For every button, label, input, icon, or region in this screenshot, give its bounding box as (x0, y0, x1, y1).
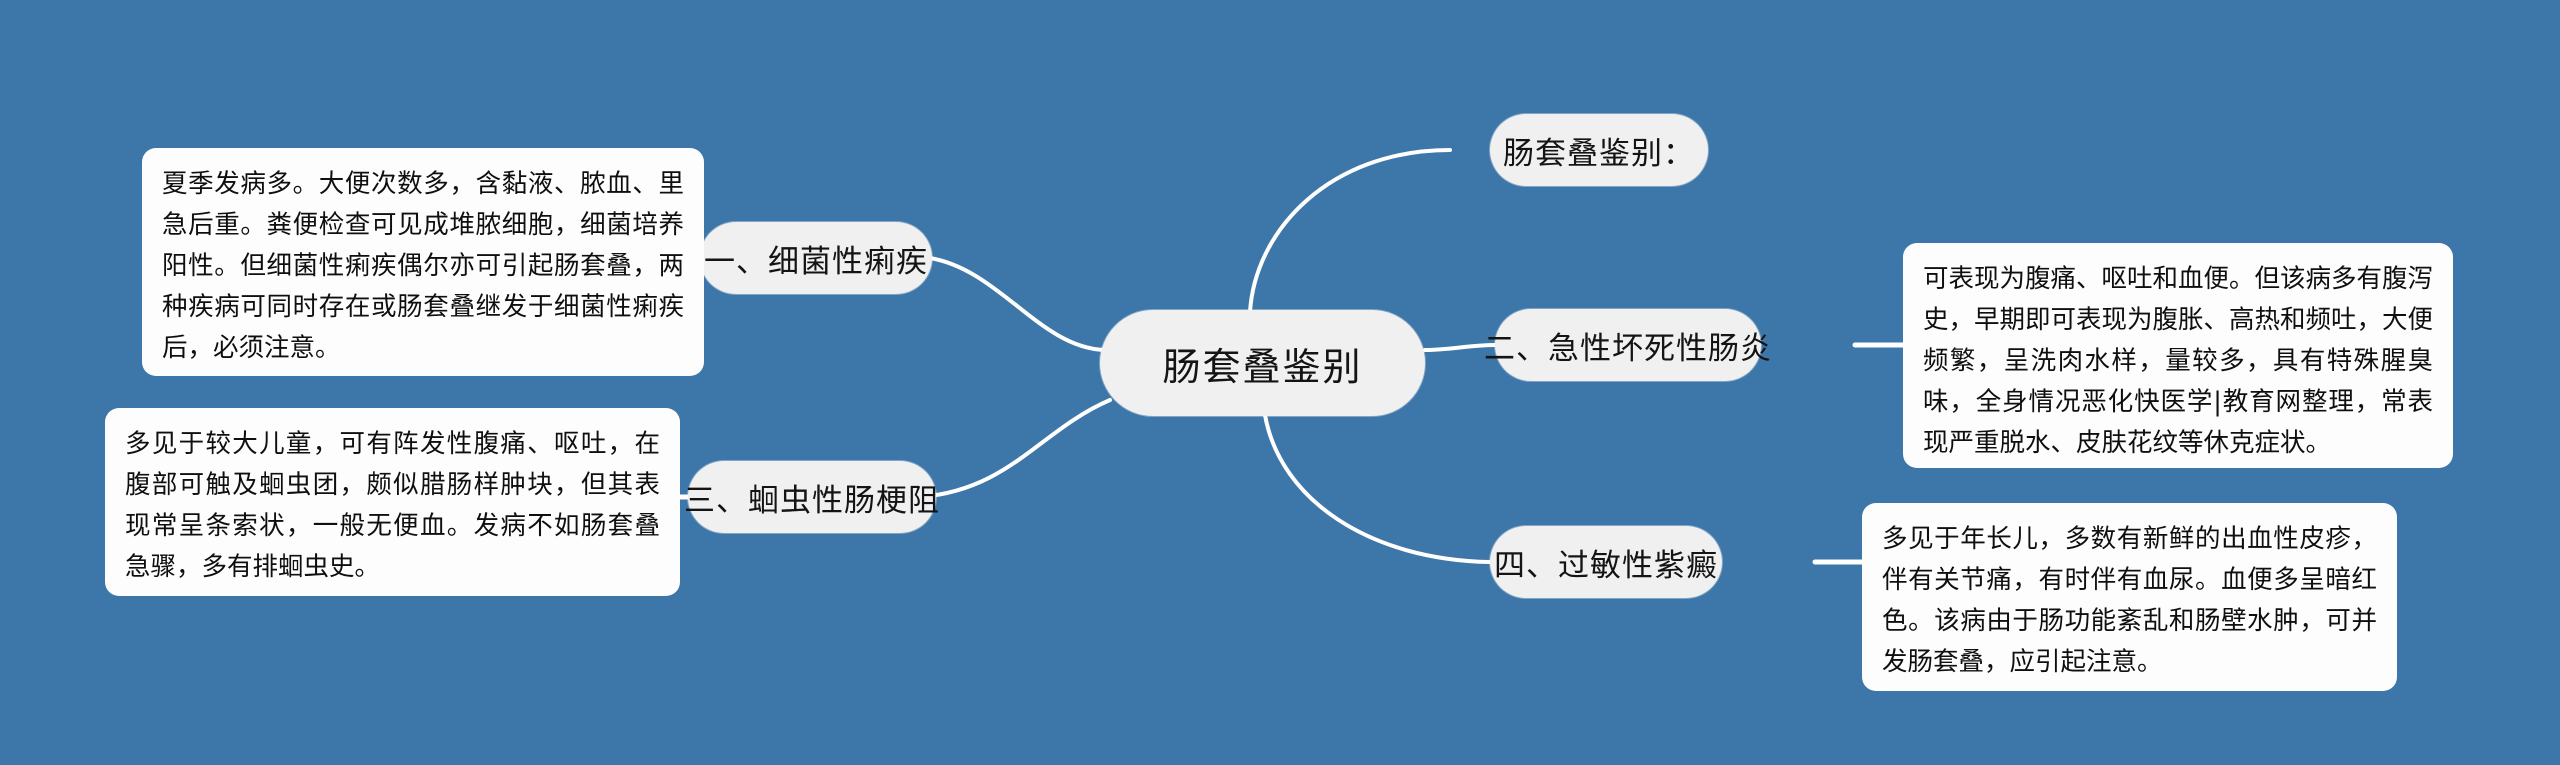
root-node-label: 肠套叠鉴别 (1162, 336, 1362, 391)
connector-root-to-allergic-purpura (1265, 415, 1490, 562)
branch-label-allergic-purpura: 四、过敏性紫癜 (1494, 540, 1718, 585)
mindmap-canvas: 肠套叠鉴别 一、细菌性痢疾 三、蛔虫性肠梗阻 肠套叠鉴别： 二、急性坏死性肠炎 … (0, 0, 2560, 765)
branch-node-intussusception-heading[interactable]: 肠套叠鉴别： (1490, 114, 1708, 186)
branch-node-ascaris-ileus[interactable]: 三、蛔虫性肠梗阻 (688, 461, 936, 533)
branch-node-bacterial-dysentery[interactable]: 一、细菌性痢疾 (700, 222, 932, 294)
branch-label-bacterial-dysentery: 一、细菌性痢疾 (704, 236, 928, 281)
branch-label-ascaris-ileus: 三、蛔虫性肠梗阻 (684, 475, 940, 520)
detail-panel-necrotizing-enteritis: 可表现为腹痛、呕吐和血便。但该病多有腹泻史，早期即可表现为腹胀、高热和频吐，大便… (1903, 243, 2453, 468)
root-node[interactable]: 肠套叠鉴别 (1100, 310, 1425, 416)
detail-panel-allergic-purpura: 多见于年长儿，多数有新鲜的出血性皮疹，伴有关节痛，有时伴有血尿。血便多呈暗红色。… (1862, 503, 2397, 691)
branch-node-necrotizing-enteritis[interactable]: 二、急性坏死性肠炎 (1495, 309, 1761, 381)
detail-panel-ascaris-ileus: 多见于较大儿童，可有阵发性腹痛、呕吐，在腹部可触及蛔虫团，颇似腊肠样肿块，但其表… (105, 408, 680, 596)
connector-root-to-intussusception-heading (1250, 150, 1450, 312)
branch-label-necrotizing-enteritis: 二、急性坏死性肠炎 (1484, 323, 1772, 368)
branch-node-allergic-purpura[interactable]: 四、过敏性紫癜 (1490, 526, 1722, 598)
connector-root-to-bacterial-dysentery (930, 258, 1105, 350)
connector-root-to-ascaris-ileus (920, 400, 1110, 497)
branch-label-intussusception-heading: 肠套叠鉴别： (1503, 128, 1695, 173)
detail-panel-bacterial-dysentery: 夏季发病多。大便次数多，含黏液、脓血、里急后重。粪便检查可见成堆脓细胞，细菌培养… (142, 148, 704, 376)
